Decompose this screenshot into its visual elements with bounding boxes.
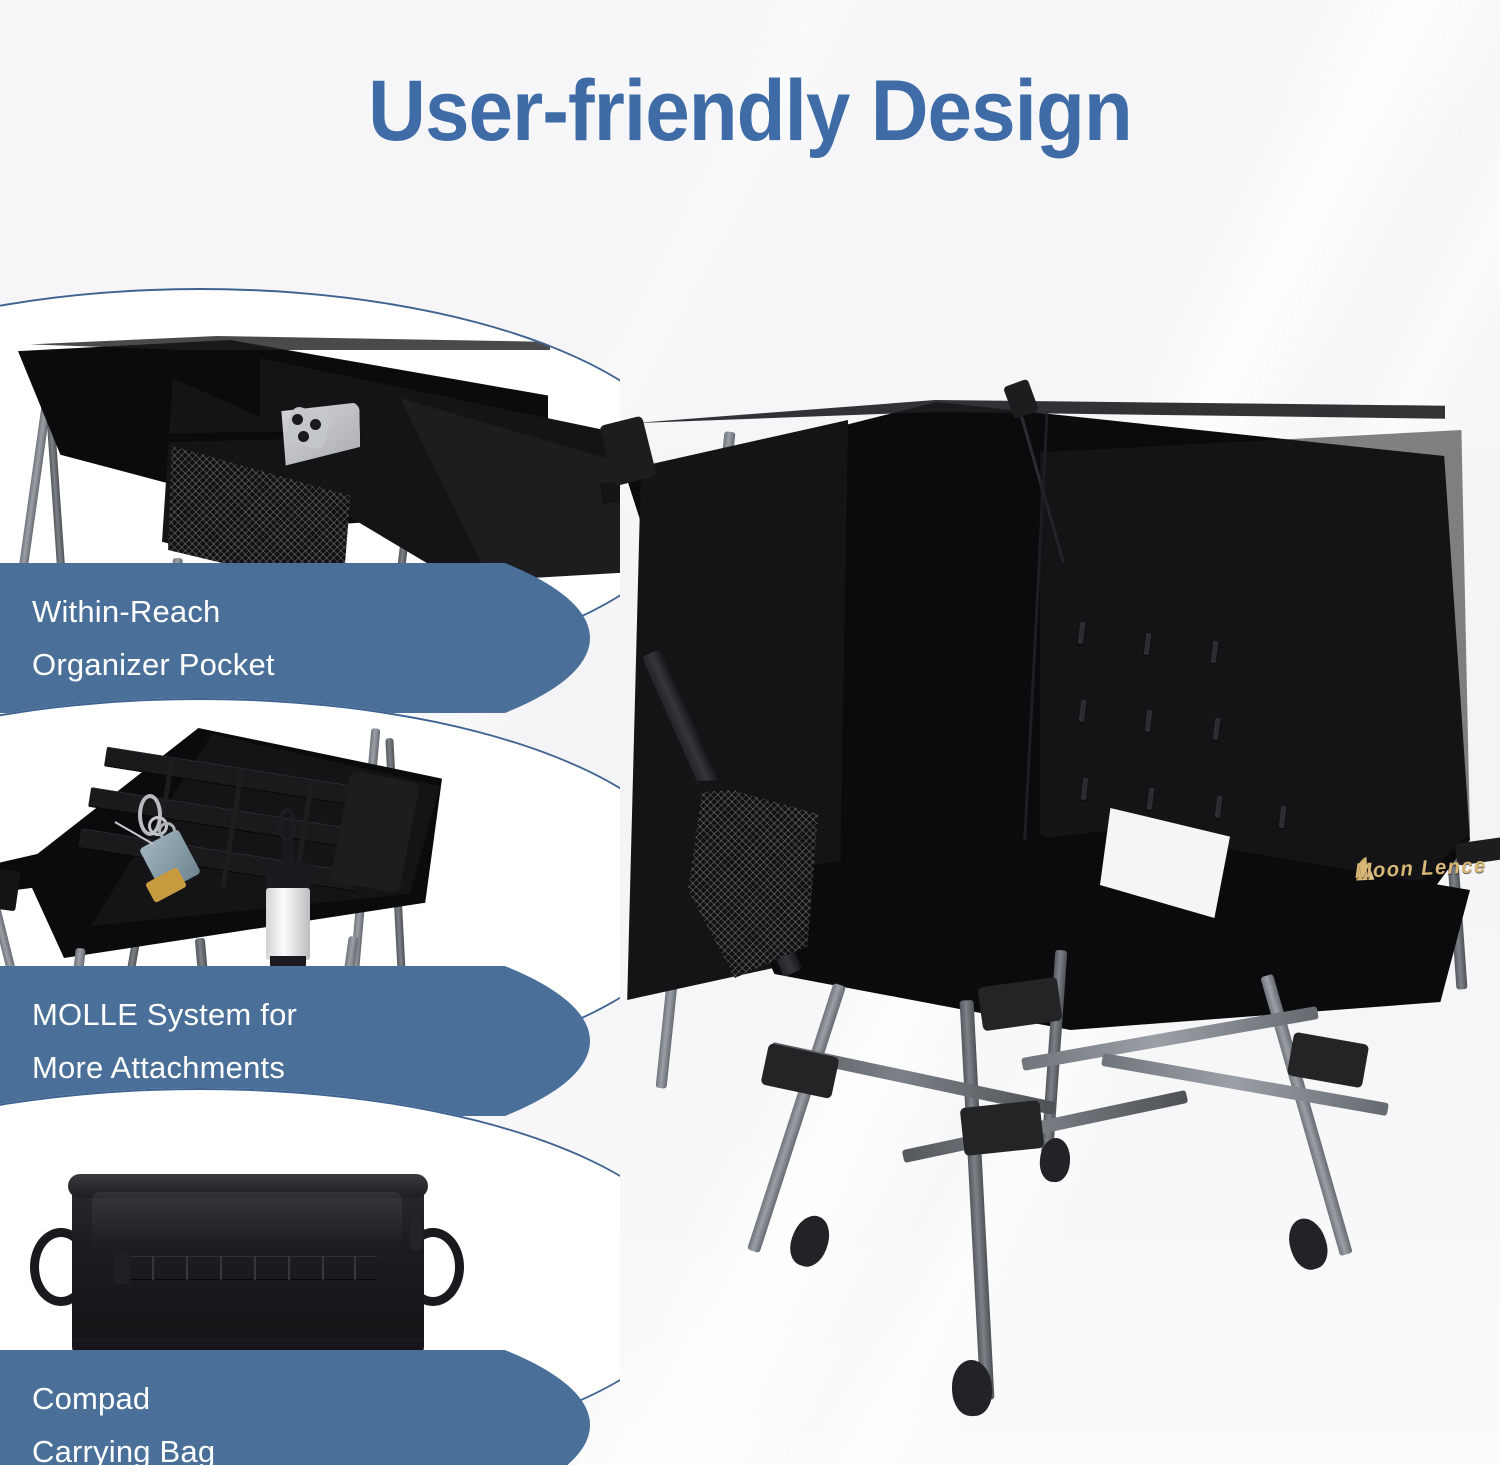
chair-hub-connector <box>960 1100 1045 1156</box>
caption-line-2: More Attachments <box>32 1041 297 1094</box>
chair-leg <box>960 1000 995 1400</box>
brand-logo-text: Moon Lence <box>1354 854 1487 884</box>
caption-line-1: MOLLE System for <box>32 997 297 1032</box>
caption-line-1: Compad <box>32 1381 150 1416</box>
chair-hub-connector <box>760 1043 839 1099</box>
lantern <box>266 862 310 890</box>
feature-panel-molle-system: MOLLE System for More Attachments <box>0 698 620 1088</box>
caption-line-2: Organizer Pocket <box>32 638 275 691</box>
chair-foot <box>784 1210 836 1271</box>
feature-panel-organizer-pocket: Within-Reach Organizer Pocket <box>0 288 620 688</box>
feature-caption-organizer-pocket: Within-Reach Organizer Pocket <box>0 563 620 713</box>
bag-molle-strap <box>120 1256 378 1280</box>
page-title: User-friendly Design <box>53 62 1448 161</box>
chair-foot <box>1283 1214 1333 1275</box>
lantern-hook <box>278 808 296 842</box>
feature-caption-carrying-bag: Compad Carrying Bag <box>0 1350 620 1465</box>
main-product-image: Moon Lence <box>600 360 1500 1465</box>
chair-leg <box>747 983 846 1253</box>
feature-list: Within-Reach Organizer Pocket <box>0 288 620 1465</box>
feature-panel-carrying-bag: Compad Carrying Bag <box>0 1088 620 1465</box>
caption-line-1: Within-Reach <box>32 594 220 629</box>
caption-line-2: Carrying Bag <box>32 1425 215 1465</box>
